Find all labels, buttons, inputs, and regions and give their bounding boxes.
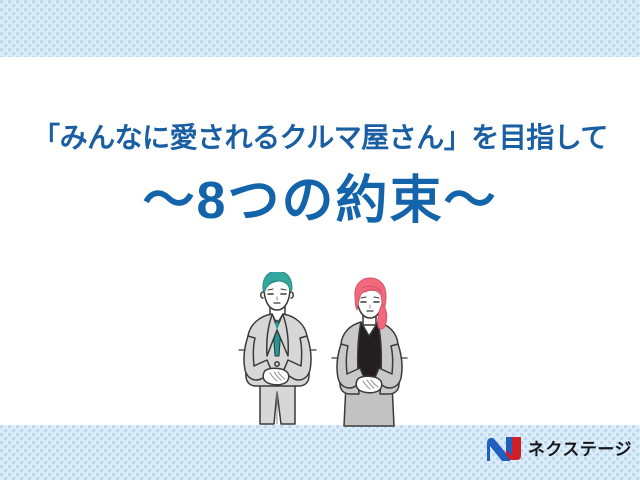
male-staff-figure bbox=[239, 272, 316, 424]
page-title: 「みんなに愛されるクルマ屋さん」を目指して bbox=[0, 118, 640, 158]
nextage-n-logo-icon bbox=[486, 436, 522, 462]
banner-image: 「みんなに愛されるクルマ屋さん」を目指して 〜8つの約束〜 bbox=[0, 0, 640, 480]
headline-block: 「みんなに愛されるクルマ屋さん」を目指して 〜8つの約束〜 bbox=[0, 118, 640, 232]
two-staff-bowing-illustration bbox=[236, 272, 416, 430]
nextage-logo: ネクステージ bbox=[486, 436, 632, 462]
page-subtitle: 〜8つの約束〜 bbox=[0, 170, 640, 232]
female-staff-figure bbox=[332, 278, 407, 426]
nextage-logo-text: ネクステージ bbox=[528, 441, 632, 458]
top-dot-band bbox=[0, 0, 640, 57]
